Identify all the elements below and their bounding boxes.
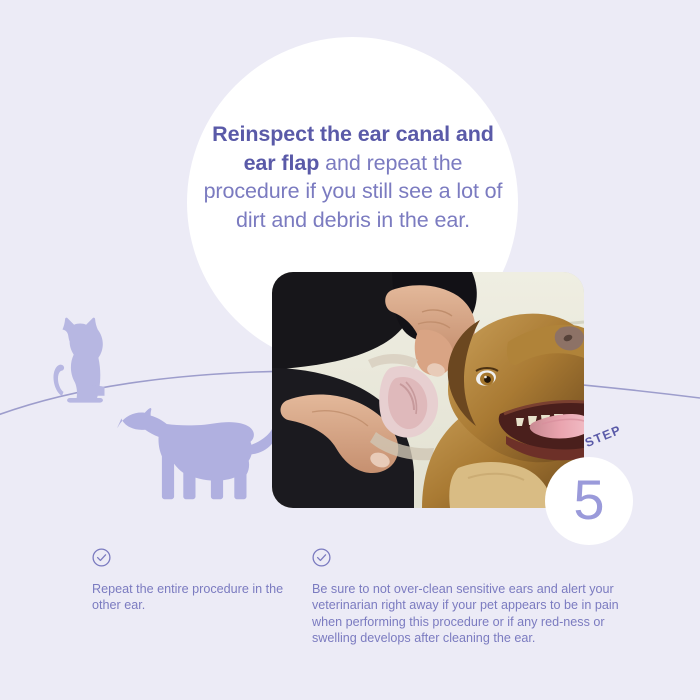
step-badge: 5	[545, 457, 633, 545]
note-text: Be sure to not over-clean sensitive ears…	[312, 581, 642, 647]
page-title: Reinspect the ear canal and ear flap and…	[196, 120, 510, 234]
check-circle-icon	[92, 548, 302, 572]
check-circle-icon	[312, 548, 642, 572]
dog-icon	[117, 408, 276, 499]
procedure-photo	[272, 272, 584, 508]
cat-icon	[53, 318, 104, 403]
note-text: Repeat the entire procedure in the other…	[92, 581, 302, 614]
infographic-canvas: Reinspect the ear canal and ear flap and…	[0, 0, 700, 700]
photo-illustration	[272, 272, 584, 508]
step-number: 5	[573, 472, 604, 528]
note-item-1: Repeat the entire procedure in the other…	[92, 548, 302, 614]
note-item-2: Be sure to not over-clean sensitive ears…	[312, 548, 642, 647]
